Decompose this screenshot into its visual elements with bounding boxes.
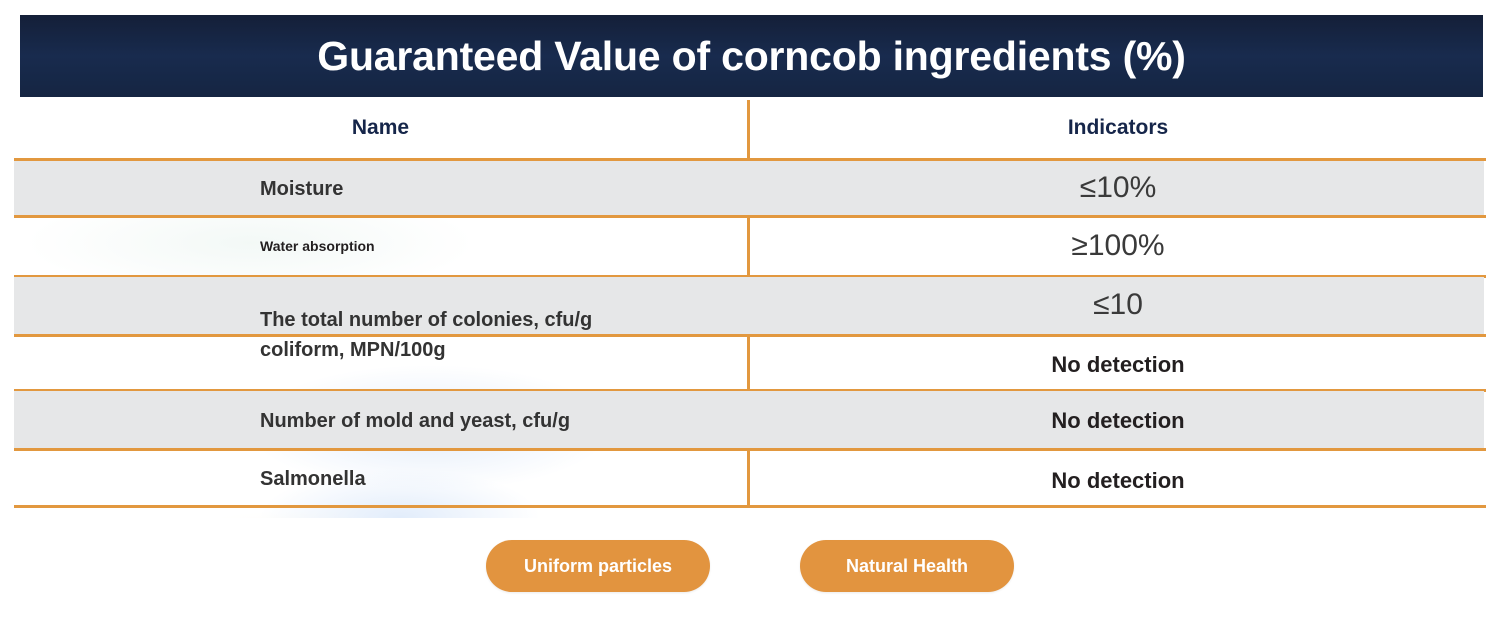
rule-6 [14,448,1486,451]
table-row-name-2: Water absorption [14,238,747,254]
rule-4 [14,334,1486,337]
title-banner: Guaranteed Value of corncob ingredients … [20,15,1483,97]
column-header-name: Name [14,116,747,140]
pill-uniform-particles[interactable]: Uniform particles [486,540,710,592]
table-row-value-4: No detection [750,352,1486,378]
table-row-name-1: Moisture [14,178,747,201]
feature-pill-group: Uniform particles Natural Health [0,540,1500,592]
table-row-value-2: ≥100% [750,229,1486,263]
table-row-value-5: No detection [750,408,1486,434]
page-title: Guaranteed Value of corncob ingredients … [317,36,1186,77]
table-row-value-1: ≤10% [750,171,1486,205]
table-row-value-6: No detection [750,468,1486,494]
rule-1 [14,158,1486,161]
table-row-name-3: The total number of colonies, cfu/g [14,309,747,332]
table-row-name-5: Number of mold and yeast, cfu/g [14,410,747,433]
table-row-value-3: ≤10 [750,288,1486,322]
rule-2 [14,215,1486,218]
table-row-name-4: coliform, MPN/100g [14,339,747,362]
table-row-name-6: Salmonella [14,468,747,491]
rule-7 [14,505,1486,508]
pill-natural-health[interactable]: Natural Health [800,540,1014,592]
column-header-indicators: Indicators [750,116,1486,140]
